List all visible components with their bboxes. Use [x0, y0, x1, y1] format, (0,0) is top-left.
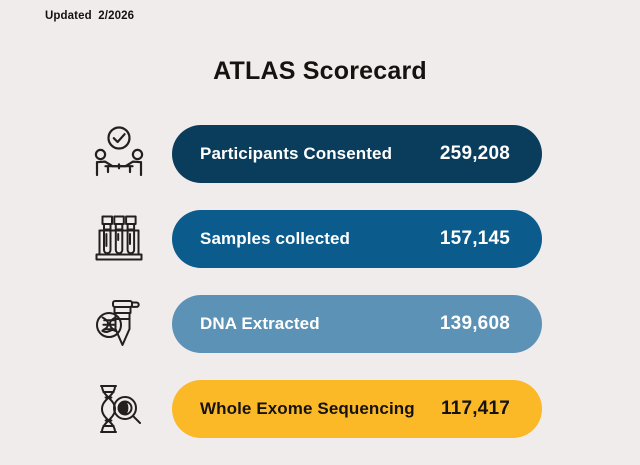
scorecard-row: DNA Extracted 139,608 — [0, 295, 640, 353]
dna-sample-tube-icon — [88, 293, 150, 355]
scorecard-row: Whole Exome Sequencing 117,417 — [0, 380, 640, 438]
scorecard-row: Participants Consented 259,208 — [0, 125, 640, 183]
scorecard-page: Updated 2/2026 ATLAS Scorecard — [0, 0, 640, 460]
handshake-check-icon — [88, 123, 150, 185]
scorecard-bar[interactable]: Whole Exome Sequencing 117,417 — [172, 380, 542, 438]
updated-timestamp: Updated 2/2026 — [45, 10, 134, 22]
scorecard-value: 139,608 — [440, 313, 510, 335]
scorecard-row: Samples collected 157,145 — [0, 210, 640, 268]
scorecard-bar[interactable]: DNA Extracted 139,608 — [172, 295, 542, 353]
scorecard-label: Whole Exome Sequencing — [200, 399, 415, 419]
scorecard-bar[interactable]: Samples collected 157,145 — [172, 210, 542, 268]
scorecard-row-list: Participants Consented 259,208 — [0, 125, 640, 465]
page-title: ATLAS Scorecard — [0, 57, 640, 86]
scorecard-label: Participants Consented — [200, 144, 392, 164]
dna-magnifier-icon — [88, 378, 150, 440]
scorecard-value: 157,145 — [440, 228, 510, 250]
test-tube-rack-icon — [88, 208, 150, 270]
scorecard-value: 259,208 — [440, 143, 510, 165]
scorecard-value: 117,417 — [441, 398, 510, 420]
scorecard-bar[interactable]: Participants Consented 259,208 — [172, 125, 542, 183]
scorecard-label: DNA Extracted — [200, 314, 320, 334]
scorecard-label: Samples collected — [200, 229, 350, 249]
